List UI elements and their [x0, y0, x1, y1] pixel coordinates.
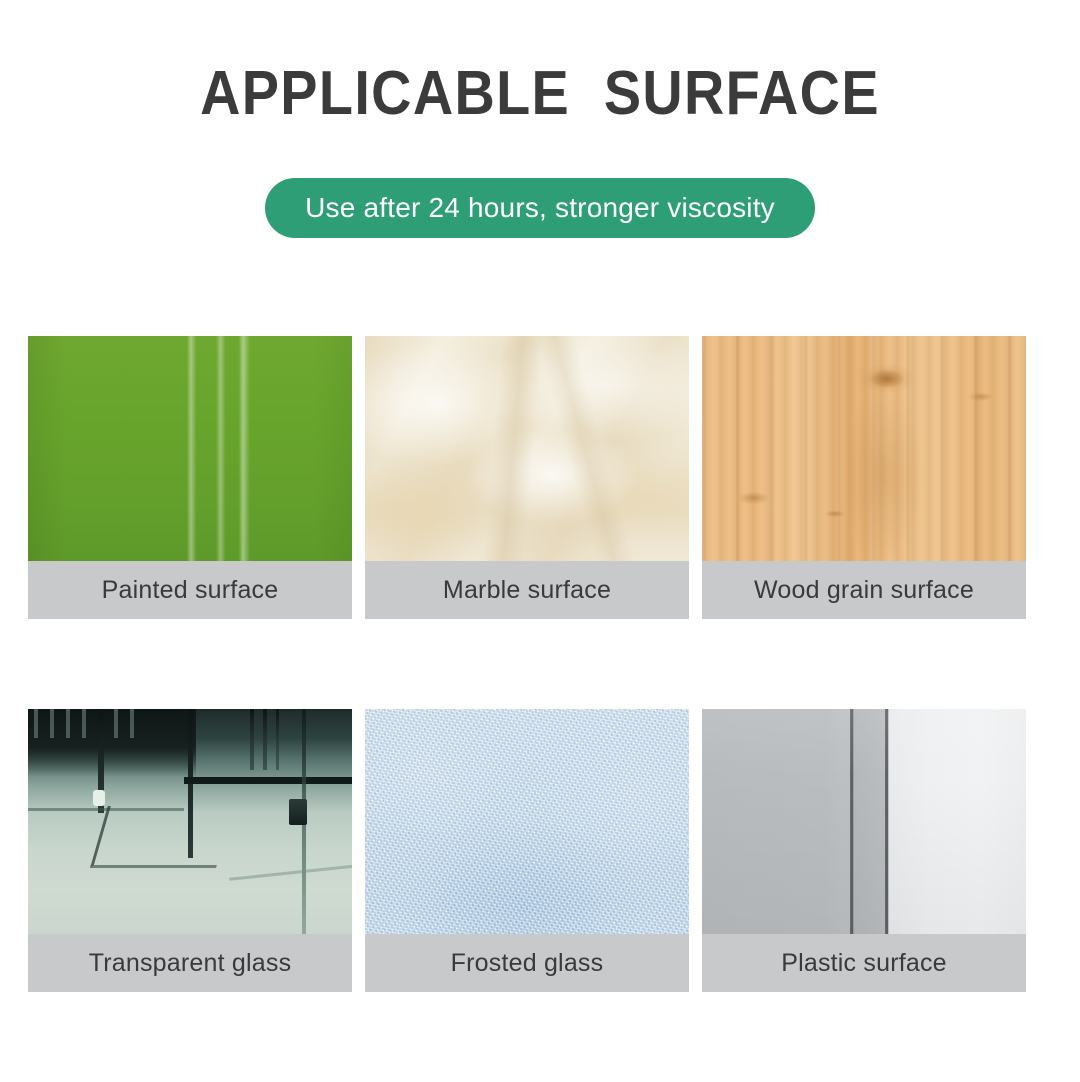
glass-mullion-3 [250, 709, 254, 770]
surface-image-painted-surface [28, 336, 352, 561]
surface-caption-frosted-glass: Frosted glass [365, 934, 689, 992]
glass-mullion-4 [263, 709, 267, 770]
surface-image-marble-surface [365, 336, 689, 561]
surface-caption-painted-surface: Painted surface [28, 561, 352, 619]
surface-image-transparent-glass [28, 709, 352, 934]
surface-card-painted-surface[interactable]: Painted surface [28, 336, 352, 619]
glass-door-handle [289, 799, 307, 825]
usage-badge: Use after 24 hours, stronger viscosity [265, 178, 815, 238]
surface-caption-transparent-glass: Transparent glass [28, 934, 352, 992]
surface-caption-wood-grain-surface: Wood grain surface [702, 561, 1026, 619]
glass-door-panel [90, 806, 234, 868]
surface-card-wood-grain-surface[interactable]: Wood grain surface [702, 336, 1026, 619]
surface-card-transparent-glass[interactable]: Transparent glass [28, 709, 352, 992]
surface-card-plastic-surface[interactable]: Plastic surface [702, 709, 1026, 992]
surface-caption-plastic-surface: Plastic surface [702, 934, 1026, 992]
surface-card-frosted-glass[interactable]: Frosted glass [365, 709, 689, 992]
glass-mullion-5 [276, 709, 279, 770]
surface-caption-marble-surface: Marble surface [365, 561, 689, 619]
glass-floor-reflection [229, 864, 352, 881]
glass-light-reflection [93, 790, 105, 806]
surface-row-1: Painted surface Marble surface Wood grai… [28, 336, 1028, 619]
surface-image-frosted-glass [365, 709, 689, 934]
surface-image-plastic-surface [702, 709, 1026, 934]
surface-row-2: Transparent glass Frosted glass Plastic … [28, 709, 1028, 992]
glass-ceiling-slats [34, 709, 144, 738]
glass-rail [184, 777, 352, 784]
surface-image-wood-grain-surface [702, 336, 1026, 561]
page-title: APPLICABLE SURFACE [54, 58, 1026, 130]
surface-grid: Painted surface Marble surface Wood grai… [28, 336, 1028, 1082]
badge-container: Use after 24 hours, stronger viscosity [0, 178, 1080, 238]
surface-card-marble-surface[interactable]: Marble surface [365, 336, 689, 619]
